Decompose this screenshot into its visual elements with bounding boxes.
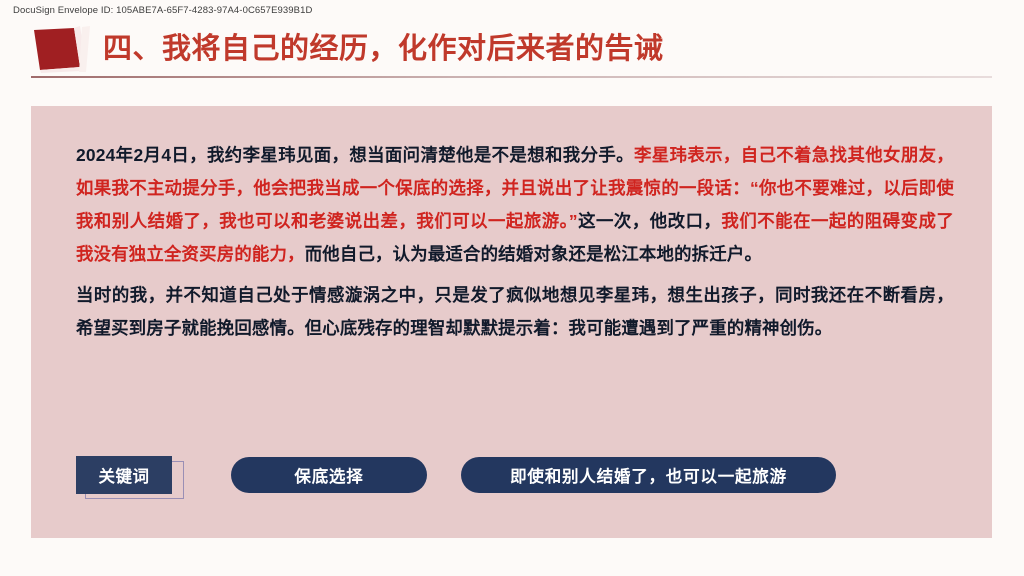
para1-seg-dark-3: 而他自己，认为最适合的结婚对象还是松江本地的拆迁户。 [305, 244, 762, 264]
docusign-envelope-id: DocuSign Envelope ID: 105ABE7A-65F7-4283… [13, 5, 312, 16]
content-panel: 2024年2月4日，我约李星玮见面，想当面问清楚他是不是想和我分手。李星玮表示，… [31, 106, 992, 538]
paragraph-2: 当时的我，并不知道自己处于情感漩涡之中，只是发了疯似地想见李星玮，想生出孩子，同… [76, 279, 954, 345]
docusign-banner: DocuSign Envelope ID: 105ABE7A-65F7-4283… [0, 0, 1024, 22]
book-icon [30, 26, 92, 74]
para1-seg-dark-1: 2024年2月4日，我约李星玮见面，想当面问清楚他是不是想和我分手。 [76, 145, 634, 165]
para1-seg-dark-2: 这一次，他改口， [578, 211, 722, 231]
paragraph-1: 2024年2月4日，我约李星玮见面，想当面问清楚他是不是想和我分手。李星玮表示，… [76, 139, 954, 271]
keyword-tag-1[interactable]: 保底选择 [231, 457, 427, 493]
page-title: 四、我将自己的经历，化作对后来者的告诫 [103, 25, 664, 67]
keyword-label-group: 关键词 [76, 456, 186, 500]
body-text: 2024年2月4日，我约李星玮见面，想当面问清楚他是不是想和我分手。李星玮表示，… [76, 139, 954, 345]
keyword-tag-2[interactable]: 即使和别人结婚了，也可以一起旅游 [461, 457, 836, 493]
title-divider [31, 76, 992, 78]
keyword-label[interactable]: 关键词 [76, 456, 172, 494]
slide-header: 四、我将自己的经历，化作对后来者的告诫 [0, 24, 1024, 76]
